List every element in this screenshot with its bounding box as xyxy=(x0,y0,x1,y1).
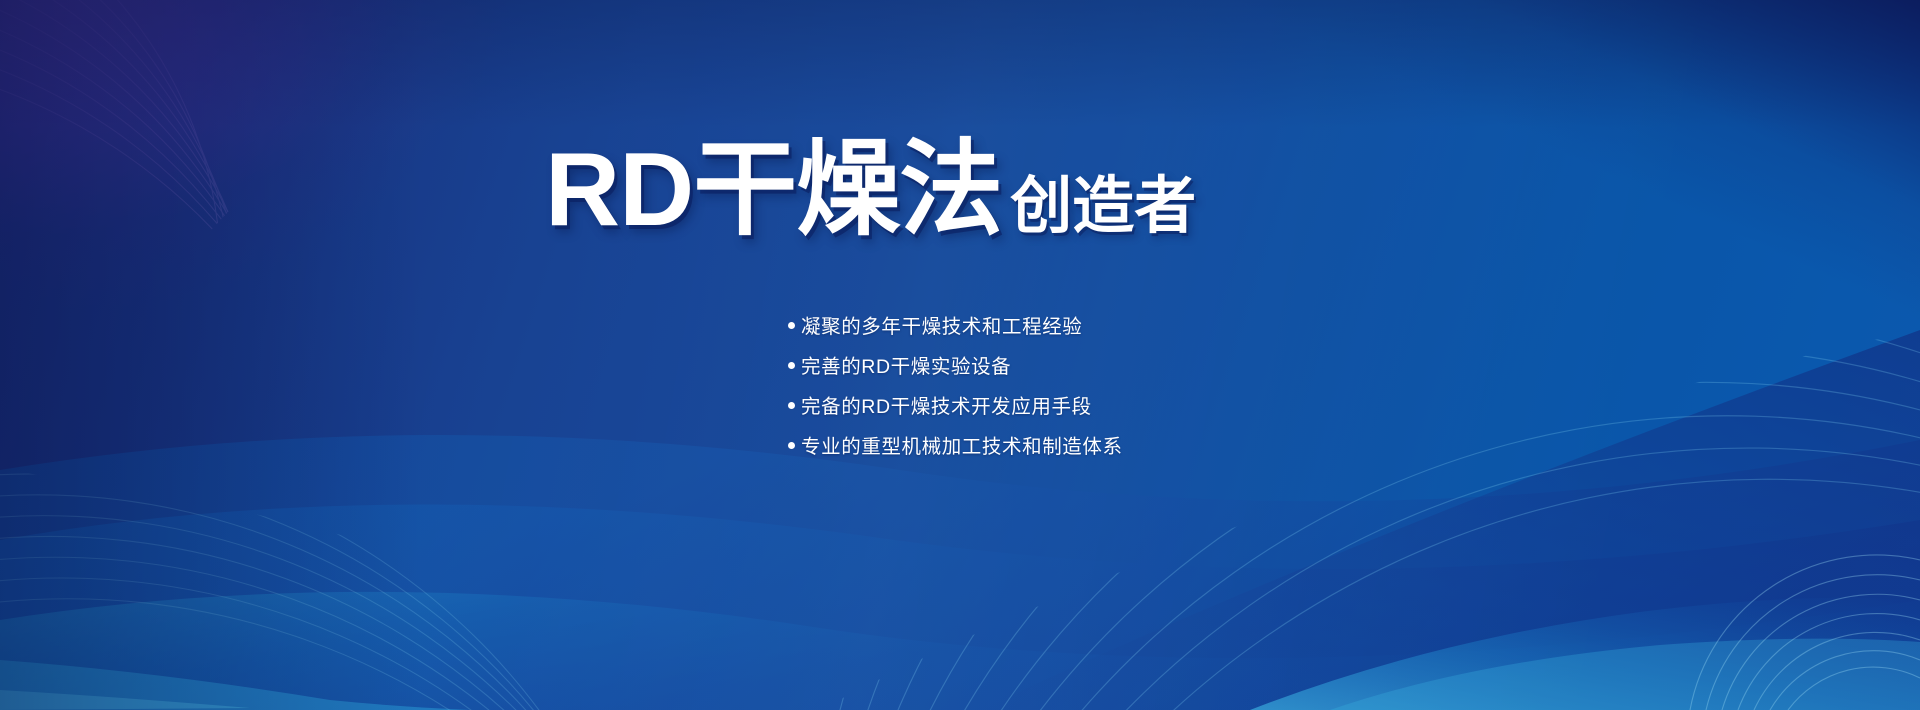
bullet-dot-icon xyxy=(788,442,795,449)
bullet-dot-icon xyxy=(788,402,795,409)
list-item: 完善的RD干燥实验设备 xyxy=(788,348,1123,380)
bullet-text: 专业的重型机械加工技术和制造体系 xyxy=(801,430,1123,459)
bullet-text: 完备的RD干燥技术开发应用手段 xyxy=(801,390,1092,419)
banner-headline: RD干燥法 创造者 xyxy=(545,138,1196,242)
headline-main-text: RD干燥法 xyxy=(545,138,1002,242)
feature-bullet-list: 凝聚的多年干燥技术和工程经验 完善的RD干燥实验设备 完备的RD干燥技术开发应用… xyxy=(788,308,1123,468)
bullet-dot-icon xyxy=(788,322,795,329)
headline-sub-text: 创造者 xyxy=(1010,176,1196,238)
bullet-text: 完善的RD干燥实验设备 xyxy=(801,350,1011,379)
banner-content: RD干燥法 创造者 凝聚的多年干燥技术和工程经验 完善的RD干燥实验设备 完备的… xyxy=(0,0,1920,710)
bullet-text: 凝聚的多年干燥技术和工程经验 xyxy=(801,310,1082,339)
list-item: 凝聚的多年干燥技术和工程经验 xyxy=(788,308,1123,340)
list-item: 专业的重型机械加工技术和制造体系 xyxy=(788,428,1123,460)
list-item: 完备的RD干燥技术开发应用手段 xyxy=(788,388,1123,420)
hero-banner: RD干燥法 创造者 凝聚的多年干燥技术和工程经验 完善的RD干燥实验设备 完备的… xyxy=(0,0,1920,710)
bullet-dot-icon xyxy=(788,362,795,369)
